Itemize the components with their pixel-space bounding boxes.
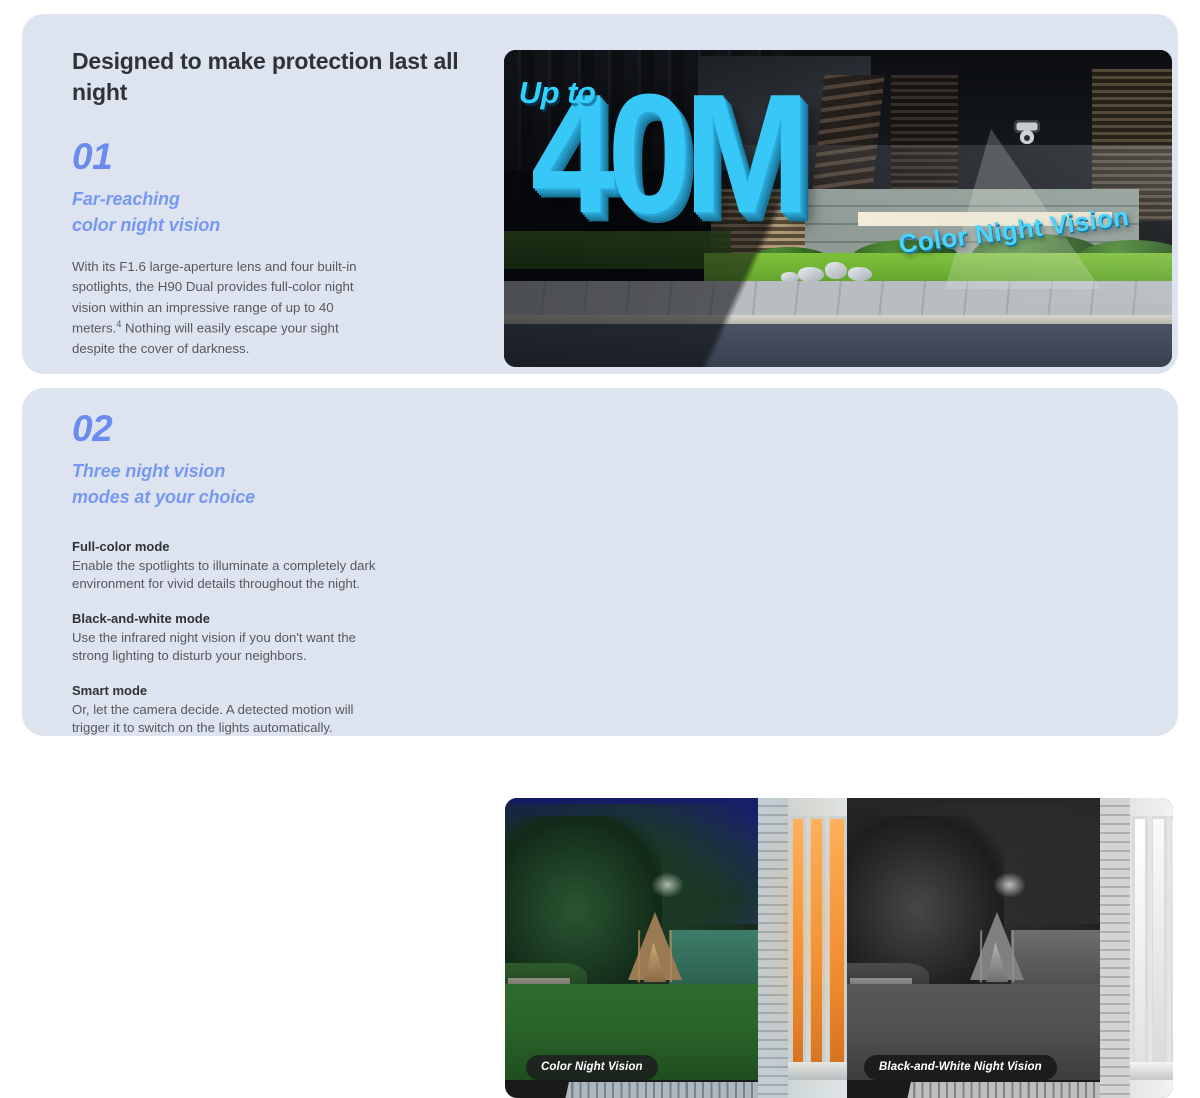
mode-description: Use the infrared night vision if you don… [72,629,387,666]
hero-rock [848,267,872,281]
mode-title: Smart mode [72,681,387,701]
section-01-subtitle: Far-reaching color night vision [72,186,472,238]
scene-house [1100,798,1173,1098]
scene-content [505,798,847,1098]
house-siding [1100,798,1130,1098]
hero-night-vision-image: 40M Up to Color Night Vision [504,50,1172,367]
window-mullion [806,816,810,1068]
scene-bw [847,798,1173,1098]
scene-house [758,798,847,1098]
comparison-half-color: Color Night Vision [505,798,847,1098]
section-01-subtitle-line2: color night vision [72,212,472,238]
section-01-body: With its F1.6 large-aperture lens and fo… [72,257,374,358]
comparison-half-black-and-white: Black-and-White Night Vision [847,798,1173,1098]
mode-item-full-color: Full-color mode Enable the spotlights to… [72,537,387,594]
hero-eyebrow-up-to: Up to [519,75,596,111]
house-window [1150,816,1167,1068]
window-mullion [1167,816,1171,1068]
section-02-subtitle-line1: Three night vision [72,458,472,484]
mode-item-smart: Smart mode Or, let the camera decide. A … [72,681,387,738]
section-01-text-column: Designed to make protection last all nig… [72,46,472,359]
section-02-text-column: 02 Three night vision modes at your choi… [72,410,472,738]
window-sill [1130,1062,1173,1080]
section-01-subtitle-line1: Far-reaching [72,186,472,212]
section-02-subtitle-line2: modes at your choice [72,484,472,510]
cabin-frame [638,930,672,982]
mode-title: Black-and-white mode [72,609,387,629]
step-number-02: 02 [72,410,472,447]
mode-title: Full-color mode [72,537,387,557]
window-mullion [1148,816,1152,1068]
feature-card-02: 02 Three night vision modes at your choi… [22,388,1178,736]
night-vision-modes-list: Full-color mode Enable the spotlights to… [72,537,387,738]
window-sill [788,1062,847,1080]
hero-rock [825,262,847,279]
step-number-01: 01 [72,138,472,175]
house-window [827,816,847,1068]
scene-content [847,798,1173,1098]
feature-card-01: Designed to make protection last all nig… [22,14,1178,374]
hero-road [504,324,1172,367]
product-feature-page: Designed to make protection last all nig… [0,0,1200,750]
scene-a-frame-cabin [970,912,1025,993]
camera-lens [1024,135,1030,141]
window-mullion [825,816,829,1068]
caption-black-and-white-night-vision: Black-and-White Night Vision [864,1055,1057,1080]
caption-color-night-vision: Color Night Vision [526,1055,658,1080]
house-siding [758,798,788,1098]
scene-color [505,798,847,1098]
scene-sky-gap [994,873,1025,897]
house-window [808,816,825,1068]
scene-a-frame-cabin [628,912,683,993]
section-02-subtitle: Three night vision modes at your choice [72,458,472,510]
page-title: Designed to make protection last all nig… [72,46,472,108]
mode-item-black-and-white: Black-and-white mode Use the infrared ni… [72,609,387,666]
night-vision-comparison-image: Color Night Vision [505,798,1173,1098]
mode-description: Or, let the camera decide. A detected mo… [72,701,387,738]
house-window [790,816,806,1068]
hero-rock [798,267,824,282]
security-camera-icon [1014,120,1040,146]
house-window [1132,816,1148,1068]
cabin-frame [980,930,1014,982]
scene-sky-gap [652,873,683,897]
mode-description: Enable the spotlights to illuminate a co… [72,557,387,594]
